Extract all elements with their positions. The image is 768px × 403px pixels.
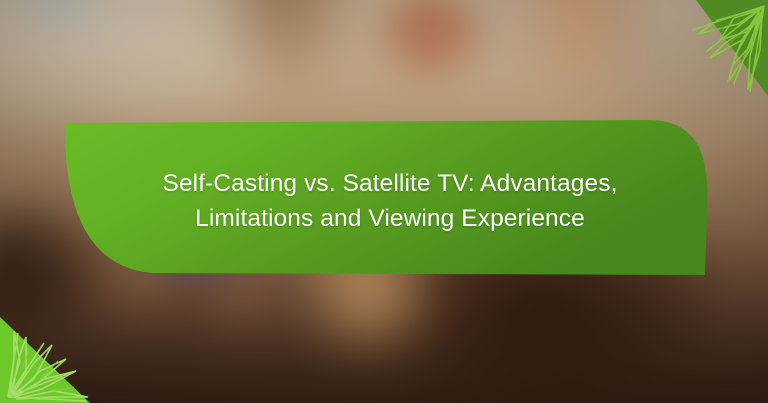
page-title-line-2: Limitations and Viewing Experience [195, 202, 585, 237]
hero-banner: Self-Casting vs. Satellite TV: Advantage… [0, 0, 768, 403]
leaf-ornament-top-right [676, 0, 768, 96]
page-title: Self-Casting vs. Satellite TV: Advantage… [130, 118, 650, 280]
leaf-ornament-bottom-left [0, 317, 112, 403]
page-title-line-1: Self-Casting vs. Satellite TV: Advantage… [163, 167, 618, 202]
title-banner: Self-Casting vs. Satellite TV: Advantage… [0, 118, 768, 280]
